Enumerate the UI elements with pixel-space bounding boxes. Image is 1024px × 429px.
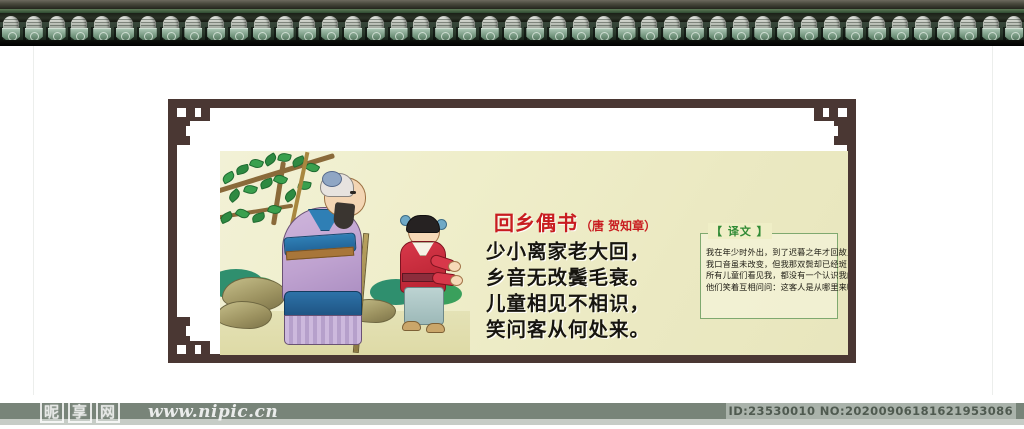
child-hair — [406, 215, 440, 233]
logo-char-1: 昵 — [40, 401, 64, 423]
leaf-shape — [263, 152, 279, 167]
old-man-and-child-illustration — [220, 151, 470, 355]
poem-title-row: 回乡偶书 （唐 贺知章） — [494, 207, 656, 236]
corner-motif-top-left — [177, 117, 186, 145]
translation-body: 我在年少时外出，到了迟暮之年才回故乡。我口音虽未改变，但我那双鬓却已经斑白。所有… — [706, 247, 834, 293]
frame-white-mat: 回乡偶书 （唐 贺知章） 少小离家老大回，乡音无改鬓毛衰。儿童相见不相识，笑问客… — [190, 121, 834, 341]
logo-char-2: 享 — [68, 401, 92, 423]
leaf-shape — [277, 152, 292, 164]
decorative-frame: 回乡偶书 （唐 贺知章） 少小离家老大回，乡音无改鬓毛衰。儿童相见不相识，笑问客… — [168, 99, 856, 363]
translation-line: 我口音虽未改变，但我那双鬓却已经斑白。 — [706, 259, 834, 271]
logo-char-3: 网 — [96, 401, 120, 423]
nipic-logo: 昵 享 网 — [40, 399, 120, 425]
frame-border-top — [168, 99, 856, 108]
eave-bottom-edge — [0, 40, 1024, 46]
poem-line: 少小离家老大回， — [486, 239, 696, 265]
translation-label: 【 译文 】 — [708, 223, 772, 239]
page-guide-line-left — [33, 46, 34, 395]
chinese-roof-tile-eave — [0, 0, 1024, 46]
child-hand — [450, 275, 463, 286]
child-shoe — [426, 323, 445, 333]
poem-line: 儿童相见不相识， — [486, 291, 696, 317]
eave-top-strip — [0, 0, 1024, 9]
frame-border-bottom — [168, 354, 856, 363]
frame-border-left — [168, 99, 177, 363]
poster-panel: 回乡偶书 （唐 贺知章） 少小离家老大回，乡音无改鬓毛衰。儿童相见不相识，笑问客… — [220, 151, 848, 355]
leaf-shape — [235, 164, 250, 176]
poem-line: 乡音无改鬓毛衰。 — [486, 265, 696, 291]
rock-shape — [220, 301, 272, 329]
translation-line: 他们笑着互相问问：这客人是从哪里来呀？ — [706, 282, 834, 294]
page-guide-line-right — [992, 46, 993, 395]
translation-line: 所有儿童们看见我，都没有一个认识我的； — [706, 270, 834, 282]
poem-line: 笑问客从何处来。 — [486, 317, 696, 343]
screenshot-root: 回乡偶书 （唐 贺知章） 少小离家老大回，乡音无改鬓毛衰。儿童相见不相识，笑问客… — [0, 0, 1024, 429]
leaf-shape — [235, 206, 251, 221]
corner-motif-top-right — [829, 108, 838, 117]
old-man-figure — [272, 173, 380, 343]
child-shoe — [402, 321, 421, 331]
corner-motif-top-right — [838, 117, 847, 145]
corner-motif-bottom-left — [177, 317, 186, 345]
leaf-shape — [243, 183, 258, 196]
frame-border-right — [847, 99, 856, 363]
watermark-url: www.nipic.cn — [148, 402, 278, 422]
man-skirt — [284, 315, 362, 345]
poem-author: （唐 贺知章） — [580, 217, 656, 234]
poster-text-content: 回乡偶书 （唐 贺知章） 少小离家老大回，乡音无改鬓毛衰。儿童相见不相识，笑问客… — [470, 151, 848, 355]
poem-body: 少小离家老大回，乡音无改鬓毛衰。儿童相见不相识，笑问客从何处来。 — [486, 239, 696, 343]
watermark-id: ID:23530010 NO:20200906181621953086 — [726, 403, 1016, 419]
child-trousers — [404, 287, 444, 325]
leaf-shape — [249, 157, 264, 170]
man-hair-bun — [322, 171, 342, 187]
child-hand — [448, 261, 461, 272]
poem-title: 回乡偶书 — [494, 207, 578, 236]
corner-motif-bottom-left — [186, 345, 195, 354]
man-eye — [350, 191, 356, 194]
translation-line: 我在年少时外出，到了迟暮之年才回故乡。 — [706, 247, 834, 259]
corner-motif-top-left — [186, 108, 195, 117]
child-figure — [392, 217, 454, 335]
